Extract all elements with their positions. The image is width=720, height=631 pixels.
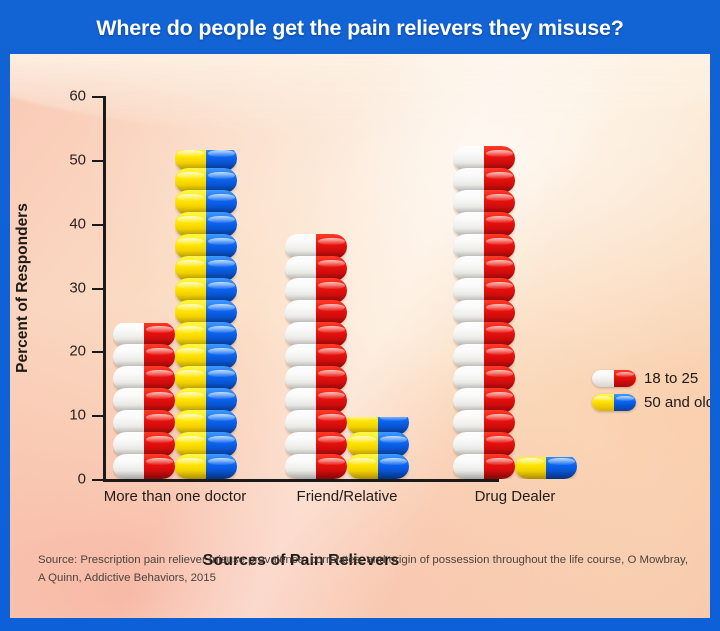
bar-pill-stack bbox=[515, 457, 577, 479]
capsule-half-right bbox=[378, 454, 409, 479]
plot-area: Percent of Responders 0102030405060 More… bbox=[103, 96, 603, 521]
y-tick-60: 60 bbox=[92, 96, 103, 98]
bar-pill-stack bbox=[175, 150, 237, 479]
infographic-root: Where do people get the pain relievers t… bbox=[0, 0, 720, 631]
capsule-half-left bbox=[515, 457, 546, 479]
bar-3-18-to-25 bbox=[453, 144, 515, 479]
y-tick-50: 50 bbox=[92, 160, 103, 162]
y-tick-label: 50 bbox=[69, 151, 86, 168]
capsule-half-left bbox=[453, 454, 484, 479]
capsule-segment bbox=[347, 454, 409, 479]
x-axis-line bbox=[103, 479, 499, 482]
y-tick-label: 30 bbox=[69, 279, 86, 296]
x-label-2: Friend/Relative bbox=[263, 488, 431, 505]
bar-2-50-and-older bbox=[347, 417, 409, 479]
bar-pill-stack bbox=[347, 417, 409, 479]
y-tick-label: 0 bbox=[78, 471, 86, 488]
title-banner: Where do people get the pain relievers t… bbox=[0, 0, 720, 56]
capsule-segment bbox=[285, 454, 347, 479]
chart-panel: Percent of Responders 0102030405060 More… bbox=[10, 54, 710, 618]
legend-swatch-capsule-icon bbox=[592, 370, 636, 387]
y-tick-label: 10 bbox=[69, 407, 86, 424]
capsule-half-left bbox=[285, 454, 316, 479]
capsule-half-left bbox=[592, 394, 614, 411]
legend-item-50-and-older[interactable]: 50 and older bbox=[592, 394, 710, 411]
capsule-half-right bbox=[614, 370, 636, 387]
bar-1-18-to-25 bbox=[113, 323, 175, 479]
capsule-half-left bbox=[592, 370, 614, 387]
legend-label: 18 to 25 bbox=[644, 370, 698, 387]
capsule-segment bbox=[113, 454, 175, 479]
legend-item-18-to-25[interactable]: 18 to 25 bbox=[592, 370, 710, 387]
capsule-half-left bbox=[175, 454, 206, 479]
y-axis-title: Percent of Responders bbox=[14, 203, 32, 373]
legend-label: 50 and older bbox=[644, 394, 710, 411]
capsule-half-left bbox=[347, 454, 378, 479]
legend: 18 to 2550 and older bbox=[592, 370, 710, 418]
y-tick-10: 10 bbox=[92, 415, 103, 417]
y-tick-label: 20 bbox=[69, 343, 86, 360]
bar-pill-stack bbox=[113, 323, 175, 479]
y-tick-label: 40 bbox=[69, 215, 86, 232]
bar-3-50-and-older bbox=[515, 457, 577, 479]
y-tick-0: 0 bbox=[92, 479, 103, 481]
y-axis-line bbox=[103, 96, 106, 481]
capsule-half-right bbox=[546, 457, 577, 479]
bar-pill-stack bbox=[285, 234, 347, 479]
bar-1-50-and-older bbox=[175, 150, 237, 479]
capsule-half-right bbox=[484, 454, 515, 479]
y-tick-20: 20 bbox=[92, 351, 103, 353]
y-tick-30: 30 bbox=[92, 288, 103, 290]
capsule-segment bbox=[453, 454, 515, 479]
capsule-half-right bbox=[614, 394, 636, 411]
capsule-half-right bbox=[316, 454, 347, 479]
y-tick-40: 40 bbox=[92, 224, 103, 226]
page-title: Where do people get the pain relievers t… bbox=[96, 16, 623, 41]
capsule-half-right bbox=[206, 454, 237, 479]
x-label-3: Drug Dealer bbox=[431, 488, 599, 505]
y-tick-label: 60 bbox=[69, 88, 86, 105]
capsule-half-left bbox=[113, 454, 144, 479]
capsule-segment bbox=[515, 457, 577, 479]
legend-swatch-capsule-icon bbox=[592, 394, 636, 411]
capsule-segment bbox=[175, 454, 237, 479]
bar-pill-stack bbox=[453, 146, 515, 479]
capsule-half-right bbox=[144, 454, 175, 479]
source-citation: Source: Prescription pain reliever misus… bbox=[38, 552, 688, 587]
bar-2-18-to-25 bbox=[285, 233, 347, 479]
x-label-1: More than one doctor bbox=[91, 488, 259, 505]
